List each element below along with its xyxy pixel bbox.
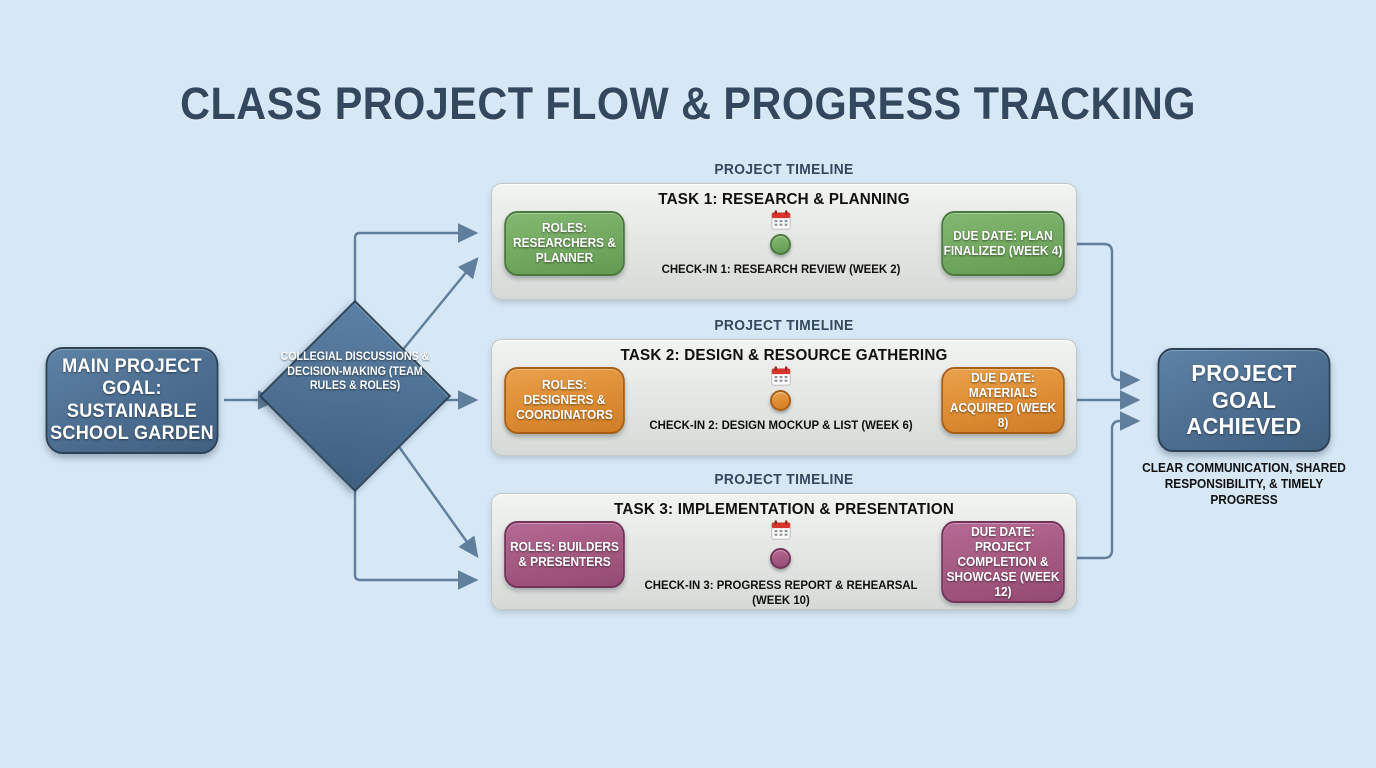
outcome-caption: CLEAR COMMUNICATION, SHARED RESPONSIBILI… <box>1140 460 1347 508</box>
task-2-checkin-marker[interactable] <box>770 390 791 411</box>
decision-diamond[interactable]: COLLEGIAL DISCUSSIONS & DECISION-MAKING … <box>287 328 423 464</box>
calendar-icon <box>770 365 792 387</box>
task-1-checkin-marker[interactable] <box>770 234 791 255</box>
edge-decision-to-task3-elbow <box>355 470 476 580</box>
page-title: CLASS PROJECT FLOW & PROGRESS TRACKING <box>55 78 1321 130</box>
diagram-canvas: CLASS PROJECT FLOW & PROGRESS TRACKING M… <box>0 0 1376 768</box>
task-3-checkin-marker[interactable] <box>770 548 791 569</box>
calendar-icon <box>770 209 792 231</box>
diamond-shape <box>259 300 451 492</box>
edge-task1-to-final <box>1070 244 1138 380</box>
timeline-caption-2: PROJECT TIMELINE <box>506 318 1063 334</box>
task-2-role-node[interactable]: ROLES: DESIGNERS & COORDINATORS <box>504 367 625 434</box>
task-3-role-node[interactable]: ROLES: BUILDERS & PRESENTERS <box>504 521 625 588</box>
timeline-caption-1: PROJECT TIMELINE <box>506 162 1063 178</box>
calendar-icon <box>770 519 792 541</box>
edge-task3-to-final <box>1070 421 1138 558</box>
task-2-due-node[interactable]: DUE DATE: MATERIALS ACQUIRED (WEEK 8) <box>941 367 1065 434</box>
decision-label: COLLEGIAL DISCUSSIONS & DECISION-MAKING … <box>275 350 435 394</box>
task-title-1: TASK 1: RESEARCH & PLANNING <box>506 191 1063 209</box>
task-1-checkin-label: CHECK-IN 1: RESEARCH REVIEW (WEEK 2) <box>639 262 924 277</box>
main-project-goal-node[interactable]: MAIN PROJECT GOAL: SUSTAINABLE SCHOOL GA… <box>46 347 219 454</box>
task-2-checkin-label: CHECK-IN 2: DESIGN MOCKUP & LIST (WEEK 6… <box>639 418 924 433</box>
edge-decision-to-task1-elbow <box>355 233 476 330</box>
timeline-caption-3: PROJECT TIMELINE <box>506 472 1063 488</box>
task-1-due-node[interactable]: DUE DATE: PLAN FINALIZED (WEEK 4) <box>941 211 1065 276</box>
project-goal-achieved-node[interactable]: PROJECT GOAL ACHIEVED <box>1158 348 1331 452</box>
task-3-due-node[interactable]: DUE DATE: PROJECT COMPLETION & SHOWCASE … <box>941 521 1065 603</box>
task-title-2: TASK 2: DESIGN & RESOURCE GATHERING <box>506 347 1063 365</box>
task-title-3: TASK 3: IMPLEMENTATION & PRESENTATION <box>506 501 1063 519</box>
task-1-role-node[interactable]: ROLES: RESEARCHERS & PLANNER <box>504 211 625 276</box>
task-3-checkin-label: CHECK-IN 3: PROGRESS REPORT & REHEARSAL … <box>639 578 924 607</box>
